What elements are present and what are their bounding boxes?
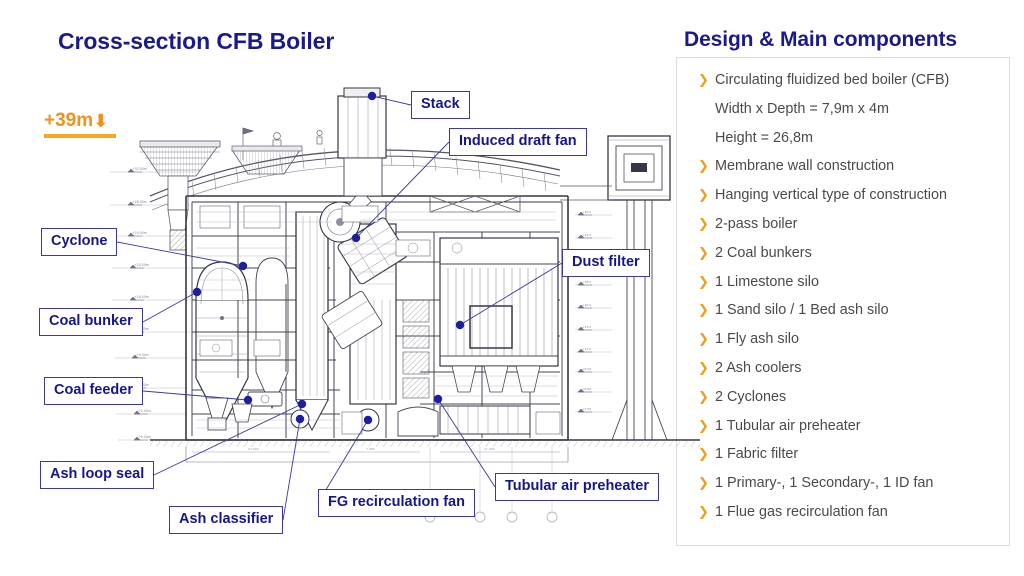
- callout-ash-loop-seal[interactable]: Ash loop seal: [40, 461, 154, 489]
- leader-line-dust-filter: [460, 263, 562, 325]
- leader-line-ash-loop-seal: [154, 404, 302, 475]
- leader-dot-cyclone: [239, 262, 247, 270]
- callout-tubular-air-preheater[interactable]: Tubular air preheater: [495, 473, 659, 501]
- leader-dot-dust-filter: [456, 321, 464, 329]
- callout-label: Cyclone: [51, 233, 107, 249]
- callout-label: Tubular air preheater: [505, 478, 649, 494]
- callout-label: Dust filter: [572, 254, 640, 270]
- callout-label: Coal feeder: [54, 382, 133, 398]
- callout-fg-recirculation-fan[interactable]: FG recirculation fan: [318, 489, 475, 517]
- callout-label: Stack: [421, 96, 460, 112]
- callout-ash-classifier[interactable]: Ash classifier: [169, 506, 283, 534]
- leader-line-cyclone: [117, 242, 243, 266]
- callout-label: Ash loop seal: [50, 466, 144, 482]
- callout-label: Coal bunker: [49, 313, 133, 329]
- callout-label: Induced draft fan: [459, 133, 577, 149]
- callout-induced-draft-fan[interactable]: Induced draft fan: [449, 128, 587, 156]
- leader-dot-stack: [368, 92, 376, 100]
- leader-dot-coal-feeder: [244, 396, 252, 404]
- leader-dot-tubular-air-preheater: [434, 395, 442, 403]
- leader-dot-coal-bunker: [193, 288, 201, 296]
- leader-line-induced-draft-fan: [356, 142, 449, 238]
- callout-label: FG recirculation fan: [328, 494, 465, 510]
- leader-dot-ash-classifier: [296, 415, 304, 423]
- leader-line-coal-bunker: [143, 292, 197, 322]
- leader-line-coal-feeder: [143, 391, 248, 400]
- leader-line-stack: [372, 96, 411, 105]
- leader-dot-fg-recirculation-fan: [364, 416, 372, 424]
- callout-stack[interactable]: Stack: [411, 91, 470, 119]
- callout-coal-bunker[interactable]: Coal bunker: [39, 308, 143, 336]
- callout-dust-filter[interactable]: Dust filter: [562, 249, 650, 277]
- leader-dot-induced-draft-fan: [352, 234, 360, 242]
- slide-canvas: +32.00m+28.00m +24.00m+20.00m +16.00m+12…: [0, 0, 1024, 576]
- callout-label: Ash classifier: [179, 511, 273, 527]
- leader-line-tubular-air-preheater: [438, 399, 495, 487]
- leader-line-ash-classifier: [283, 419, 300, 520]
- callout-cyclone[interactable]: Cyclone: [41, 228, 117, 256]
- leader-dot-ash-loop-seal: [298, 400, 306, 408]
- callout-coal-feeder[interactable]: Coal feeder: [44, 377, 143, 405]
